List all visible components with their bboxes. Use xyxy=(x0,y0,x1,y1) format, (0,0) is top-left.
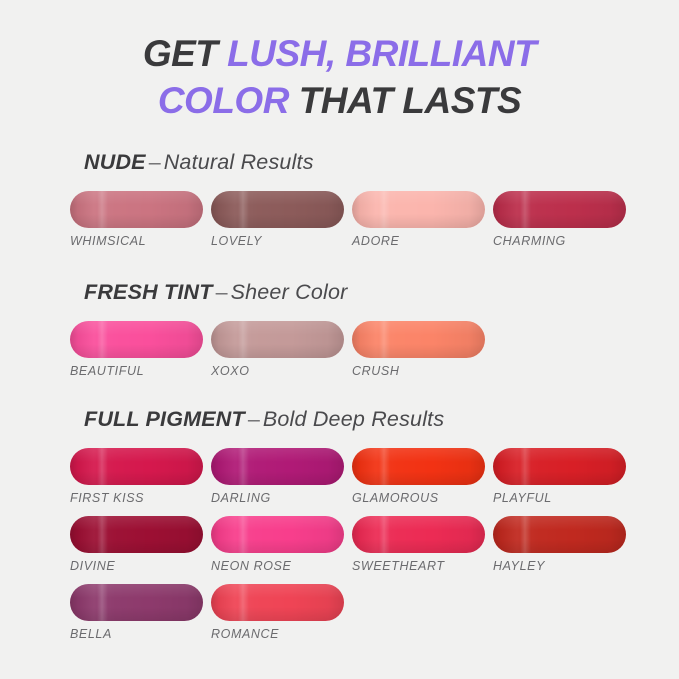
color-swatch[interactable] xyxy=(352,516,485,553)
swatch-top-shading xyxy=(211,321,344,358)
shade-name-label: BELLA xyxy=(70,627,203,641)
color-swatch[interactable] xyxy=(211,321,344,358)
section-title: FULL PIGMENT–Bold Deep Results xyxy=(0,407,679,432)
section-title: NUDE–Natural Results xyxy=(0,150,679,175)
shade-swatch-item[interactable]: BELLA xyxy=(70,584,203,641)
shade-name-label: XOXO xyxy=(211,364,344,378)
section-name: FULL PIGMENT xyxy=(84,407,245,431)
swatch-top-shading xyxy=(352,191,485,228)
shade-name-label: SWEETHEART xyxy=(352,559,485,573)
shade-name-label: CHARMING xyxy=(493,234,626,248)
swatch-top-shading xyxy=(70,584,203,621)
color-swatch[interactable] xyxy=(493,448,626,485)
shade-name-label: HAYLEY xyxy=(493,559,626,573)
shade-swatch-item[interactable]: FIRST KISS xyxy=(70,448,203,505)
shade-swatch-item[interactable]: BEAUTIFUL xyxy=(70,321,203,378)
shade-swatch-item[interactable]: GLAMOROUS xyxy=(352,448,485,505)
shade-name-label: DARLING xyxy=(211,491,344,505)
shade-swatch-item[interactable]: ROMANCE xyxy=(211,584,344,641)
shade-section: FRESH TINT–Sheer ColorBEAUTIFULXOXOCRUSH xyxy=(0,280,679,389)
shade-swatch-item[interactable]: DIVINE xyxy=(70,516,203,573)
headline-line-1: GET LUSH, BRILLIANT xyxy=(0,30,679,77)
shade-name-label: ROMANCE xyxy=(211,627,344,641)
color-swatch[interactable] xyxy=(211,584,344,621)
color-swatch[interactable] xyxy=(352,448,485,485)
color-swatch[interactable] xyxy=(211,191,344,228)
section-dash: – xyxy=(245,407,263,431)
swatch-rows: BEAUTIFULXOXOCRUSH xyxy=(0,321,679,378)
shade-name-label: NEON ROSE xyxy=(211,559,344,573)
headline-text-get: GET xyxy=(143,33,227,74)
shade-name-label: DIVINE xyxy=(70,559,203,573)
section-subtitle: Bold Deep Results xyxy=(263,407,444,431)
shade-swatch-item[interactable]: SWEETHEART xyxy=(352,516,485,573)
swatch-top-shading xyxy=(70,516,203,553)
shade-swatch-item[interactable]: CRUSH xyxy=(352,321,485,378)
shade-swatch-item[interactable]: HAYLEY xyxy=(493,516,626,573)
swatch-top-shading xyxy=(352,448,485,485)
swatch-rows: FIRST KISSDARLINGGLAMOROUSPLAYFULDIVINEN… xyxy=(0,448,679,641)
shade-swatch-item[interactable]: CHARMING xyxy=(493,191,626,248)
swatch-row: DIVINENEON ROSESWEETHEARTHAYLEY xyxy=(0,516,679,573)
shade-name-label: GLAMOROUS xyxy=(352,491,485,505)
section-dash: – xyxy=(146,150,164,174)
color-swatch[interactable] xyxy=(70,321,203,358)
swatch-top-shading xyxy=(70,448,203,485)
shade-section: FULL PIGMENT–Bold Deep ResultsFIRST KISS… xyxy=(0,407,679,652)
swatch-top-shading xyxy=(70,191,203,228)
color-swatch[interactable] xyxy=(70,584,203,621)
color-swatch[interactable] xyxy=(352,321,485,358)
shade-swatch-item[interactable]: NEON ROSE xyxy=(211,516,344,573)
shade-swatch-item[interactable]: WHIMSICAL xyxy=(70,191,203,248)
section-title: FRESH TINT–Sheer Color xyxy=(0,280,679,305)
shade-section: NUDE–Natural ResultsWHIMSICALLOVELYADORE… xyxy=(0,150,679,259)
color-swatch[interactable] xyxy=(493,191,626,228)
section-subtitle: Natural Results xyxy=(164,150,314,174)
color-swatch[interactable] xyxy=(493,516,626,553)
shade-swatch-item[interactable]: XOXO xyxy=(211,321,344,378)
swatch-top-shading xyxy=(352,321,485,358)
color-swatch[interactable] xyxy=(70,448,203,485)
swatch-top-shading xyxy=(493,191,626,228)
color-swatch[interactable] xyxy=(211,516,344,553)
swatch-rows: WHIMSICALLOVELYADORECHARMING xyxy=(0,191,679,248)
color-swatch[interactable] xyxy=(352,191,485,228)
swatch-top-shading xyxy=(211,191,344,228)
swatch-top-shading xyxy=(352,516,485,553)
swatch-row: BELLAROMANCE xyxy=(0,584,679,641)
shade-swatch-item[interactable]: PLAYFUL xyxy=(493,448,626,505)
lipstick-shade-chart: GET LUSH, BRILLIANT COLOR THAT LASTS NUD… xyxy=(0,0,679,679)
swatch-row: FIRST KISSDARLINGGLAMOROUSPLAYFUL xyxy=(0,448,679,505)
headline-accent-lush-brilliant: LUSH, BRILLIANT xyxy=(227,33,536,74)
color-swatch[interactable] xyxy=(70,516,203,553)
shade-name-label: FIRST KISS xyxy=(70,491,203,505)
headline-text-that-lasts: THAT LASTS xyxy=(289,80,521,121)
swatch-top-shading xyxy=(70,321,203,358)
swatch-row: WHIMSICALLOVELYADORECHARMING xyxy=(0,191,679,248)
shade-name-label: PLAYFUL xyxy=(493,491,626,505)
page-title: GET LUSH, BRILLIANT COLOR THAT LASTS xyxy=(0,30,679,125)
shade-name-label: ADORE xyxy=(352,234,485,248)
color-swatch[interactable] xyxy=(211,448,344,485)
section-subtitle: Sheer Color xyxy=(231,280,348,304)
shade-swatch-item[interactable]: DARLING xyxy=(211,448,344,505)
section-dash: – xyxy=(213,280,231,304)
shade-name-label: LOVELY xyxy=(211,234,344,248)
swatch-top-shading xyxy=(211,516,344,553)
swatch-top-shading xyxy=(493,516,626,553)
shade-name-label: BEAUTIFUL xyxy=(70,364,203,378)
swatch-top-shading xyxy=(211,448,344,485)
shade-swatch-item[interactable]: LOVELY xyxy=(211,191,344,248)
color-swatch[interactable] xyxy=(70,191,203,228)
headline-accent-color: COLOR xyxy=(158,80,289,121)
swatch-row: BEAUTIFULXOXOCRUSH xyxy=(0,321,679,378)
shade-name-label: WHIMSICAL xyxy=(70,234,203,248)
section-name: NUDE xyxy=(84,150,146,174)
section-name: FRESH TINT xyxy=(84,280,213,304)
swatch-top-shading xyxy=(211,584,344,621)
headline-line-2: COLOR THAT LASTS xyxy=(0,77,679,124)
shade-swatch-item[interactable]: ADORE xyxy=(352,191,485,248)
shade-name-label: CRUSH xyxy=(352,364,485,378)
swatch-top-shading xyxy=(493,448,626,485)
